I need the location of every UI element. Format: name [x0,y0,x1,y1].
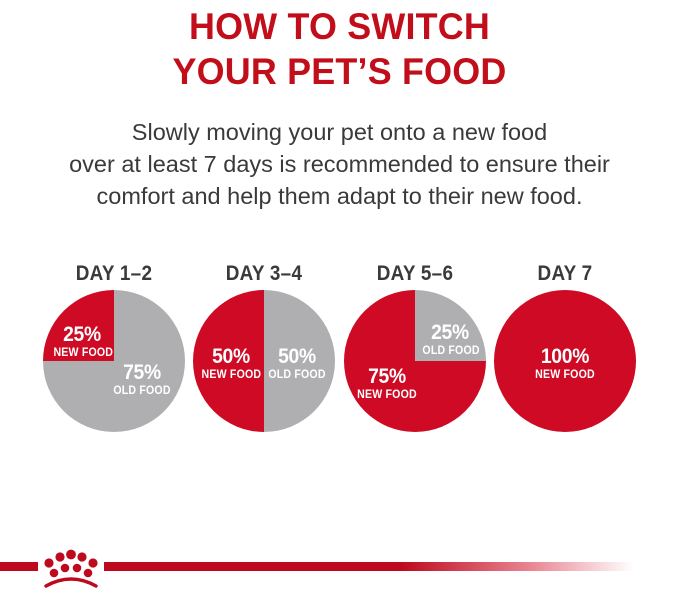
page-title-line-2: YOUR PET’S FOOD [10,49,669,94]
slice-label-new-food-4: 100% NEW FOOD [532,346,598,382]
pie-graphic-25-new [43,290,185,432]
slice-subtitle-2-old: OLD FOOD [268,370,327,382]
slice-percent-1-old: 75% [110,362,174,383]
pie-chart-day-3-4: 50% NEW FOOD 50% OLD FOOD [193,290,335,432]
slice-percent-4-new: 100% [535,346,596,367]
intro-paragraph: Slowly moving your pet onto a new food o… [0,116,679,212]
slice-label-old-food-1: 75% OLD FOOD [107,362,177,398]
intro-line-2: over at least 7 days is recommended to e… [0,148,679,180]
page-title: HOW TO SWITCH YOUR PET’S FOOD [0,4,679,94]
slice-subtitle-4-new: NEW FOOD [535,370,596,382]
pie-graphic-75-new [344,290,486,432]
royal-canin-crown-icon [40,546,102,590]
pie-chart-row: DAY 1–2 25% NEW FOOD 75% OLD FOOD DAY 3–… [0,262,679,442]
footer-bar-right [104,562,634,571]
day-label-1: DAY 1–2 [49,262,179,286]
pie-cell-day-3-4: DAY 3–4 50% NEW FOOD 50% OLD FOOD [192,262,336,442]
pie-chart-day-1-2: 25% NEW FOOD 75% OLD FOOD [43,290,185,432]
pie-chart-day-7: 100% NEW FOOD [494,290,636,432]
slice-subtitle-3-new: NEW FOOD [356,390,417,402]
slice-subtitle-3-old: OLD FOOD [422,346,477,358]
slice-label-new-food-2: 50% NEW FOOD [199,346,263,382]
slice-subtitle-1-old: OLD FOOD [110,386,174,398]
slice-subtitle-2-new: NEW FOOD [202,370,261,382]
slice-label-new-food-3: 75% NEW FOOD [354,366,420,402]
pie-cell-day-1-2: DAY 1–2 25% NEW FOOD 75% OLD FOOD [42,262,186,442]
day-label-2: DAY 3–4 [200,262,330,286]
day-label-4: DAY 7 [500,262,630,286]
intro-line-1: Slowly moving your pet onto a new food [0,116,679,148]
slice-label-old-food-2: 50% OLD FOOD [265,346,329,382]
slice-percent-2-new: 50% [202,346,261,367]
pie-cell-day-5-6: DAY 5–6 25% OLD FOOD 75% NEW FOOD [343,262,487,442]
pie-cell-day-7: DAY 7 100% NEW FOOD [493,262,637,442]
footer-bar-left [0,562,38,571]
intro-line-3: comfort and help them adapt to their new… [0,180,679,212]
pie-chart-day-5-6: 25% OLD FOOD 75% NEW FOOD [344,290,486,432]
day-label-3: DAY 5–6 [350,262,480,286]
footer [0,542,679,594]
slice-label-new-food-1: 25% NEW FOOD [51,324,113,360]
slice-percent-3-new: 75% [356,366,417,387]
page-title-line-1: HOW TO SWITCH [10,4,669,49]
slice-percent-1-new: 25% [53,324,110,345]
slice-label-old-food-3: 25% OLD FOOD [420,322,480,358]
slice-percent-3-old: 25% [422,322,477,343]
slice-percent-2-old: 50% [268,346,327,367]
slice-subtitle-1-new: NEW FOOD [53,348,110,360]
